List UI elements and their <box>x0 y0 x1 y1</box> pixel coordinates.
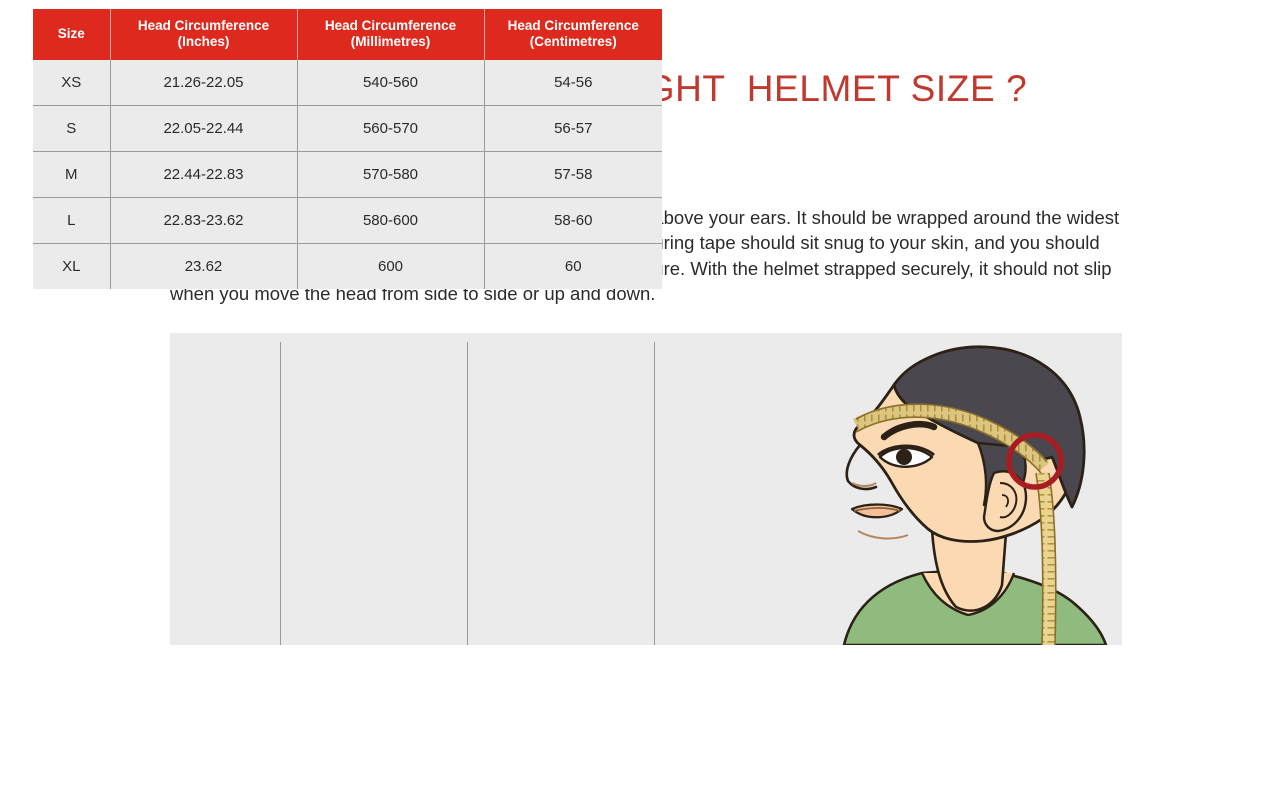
table-row: XL 23.62 600 60 <box>33 244 662 290</box>
column-header-line1: Head Circumference <box>508 18 639 33</box>
cell-inches: 23.62 <box>110 244 297 290</box>
cell-centimetres: 56-57 <box>484 106 662 152</box>
column-header-line2: (Centimetres) <box>530 34 617 49</box>
table-row: L 22.83-23.62 580-600 58-60 <box>33 198 662 244</box>
cell-centimetres: 54-56 <box>484 60 662 106</box>
table-column-divider <box>654 342 655 645</box>
column-header-line1: Head Circumference <box>138 18 269 33</box>
cell-centimetres: 58-60 <box>484 198 662 244</box>
cell-centimetres: 57-58 <box>484 152 662 198</box>
table-row: M 22.44-22.83 570-580 57-58 <box>33 152 662 198</box>
column-header-millimetres: Head Circumference (Millimetres) <box>297 9 484 60</box>
cell-millimetres: 560-570 <box>297 106 484 152</box>
cell-centimetres: 60 <box>484 244 662 290</box>
cell-millimetres: 570-580 <box>297 152 484 198</box>
cell-inches: 21.26-22.05 <box>110 60 297 106</box>
column-header-centimetres: Head Circumference (Centimetres) <box>484 9 662 60</box>
cell-inches: 22.83-23.62 <box>110 198 297 244</box>
table-row: S 22.05-22.44 560-570 56-57 <box>33 106 662 152</box>
cell-size: XS <box>33 60 110 106</box>
table-column-divider <box>467 342 468 645</box>
cell-millimetres: 600 <box>297 244 484 290</box>
column-header-line2: (Millimetres) <box>351 34 431 49</box>
column-header-line1: Head Circumference <box>325 18 456 33</box>
table-header-row: Size Head Circumference (Inches) Head Ci… <box>33 9 662 60</box>
column-header-line1: Size <box>58 26 85 41</box>
cell-size: S <box>33 106 110 152</box>
head-measurement-illustration <box>836 333 1122 645</box>
cell-size: L <box>33 198 110 244</box>
cell-inches: 22.44-22.83 <box>110 152 297 198</box>
cell-millimetres: 580-600 <box>297 198 484 244</box>
column-header-size: Size <box>33 9 110 60</box>
head-profile-svg <box>836 333 1122 645</box>
helmet-size-table: Size Head Circumference (Inches) Head Ci… <box>33 9 662 289</box>
cell-size: XL <box>33 244 110 290</box>
column-header-inches: Head Circumference (Inches) <box>110 9 297 60</box>
cell-millimetres: 540-560 <box>297 60 484 106</box>
table-row: XS 21.26-22.05 540-560 54-56 <box>33 60 662 106</box>
cell-inches: 22.05-22.44 <box>110 106 297 152</box>
table-column-divider <box>280 342 281 645</box>
column-header-line2: (Inches) <box>178 34 230 49</box>
cell-size: M <box>33 152 110 198</box>
